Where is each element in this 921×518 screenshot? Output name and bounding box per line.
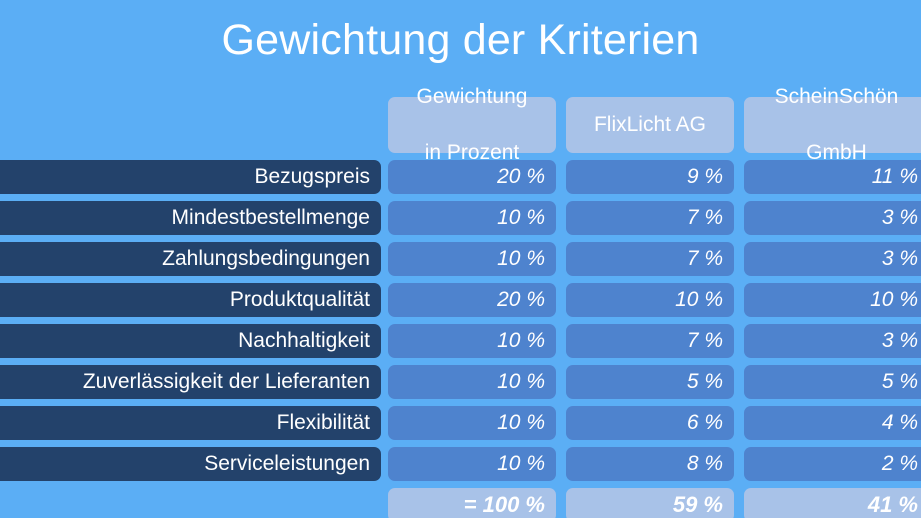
weight-value: 10 %: [388, 201, 556, 235]
weight-value: 10 %: [388, 365, 556, 399]
flixlicht-value: 6 %: [566, 406, 734, 440]
table-row: Mindestbestellmenge 10 % 7 % 3 %: [0, 201, 921, 235]
flixlicht-value: 9 %: [566, 160, 734, 194]
scheinschoen-value: 3 %: [744, 324, 921, 358]
flixlicht-value: 10 %: [566, 283, 734, 317]
weight-total: = 100 %: [388, 488, 556, 518]
weight-value: 10 %: [388, 324, 556, 358]
column-header-gewichtung-line1: Gewichtung: [394, 83, 550, 111]
table-header-row: Gewichtung in Prozent FlixLicht AG Schei…: [0, 97, 921, 153]
criterion-label: Serviceleistungen: [0, 447, 381, 481]
page-title: Gewichtung der Kriterien: [0, 16, 921, 65]
column-header-scheinschoen-line1: ScheinSchön: [750, 83, 921, 111]
column-header-gewichtung: Gewichtung in Prozent: [388, 97, 556, 153]
table-row: Serviceleistungen 10 % 8 % 2 %: [0, 447, 921, 481]
criterion-label: Produktqualität: [0, 283, 381, 317]
weight-value: 10 %: [388, 242, 556, 276]
criteria-weighting-table: Gewichtung in Prozent FlixLicht AG Schei…: [0, 97, 921, 518]
criterion-label: Bezugspreis: [0, 160, 381, 194]
criterion-label: Zuverlässigkeit der Lieferanten: [0, 365, 381, 399]
table-summary-row: = 100 % 59 % 41 %: [0, 488, 921, 518]
table-row: Zahlungsbedingungen 10 % 7 % 3 %: [0, 242, 921, 276]
criterion-label: Flexibilität: [0, 406, 381, 440]
flixlicht-value: 8 %: [566, 447, 734, 481]
weight-value: 10 %: [388, 447, 556, 481]
column-header-scheinschoen: ScheinSchön GmbH: [744, 97, 921, 153]
table-row: Produktqualität 20 % 10 % 10 %: [0, 283, 921, 317]
scheinschoen-value: 5 %: [744, 365, 921, 399]
flixlicht-value: 7 %: [566, 201, 734, 235]
weight-value: 20 %: [388, 283, 556, 317]
scheinschoen-value: 11 %: [744, 160, 921, 194]
slide: Gewichtung der Kriterien Gewichtung in P…: [0, 0, 921, 518]
flixlicht-value: 7 %: [566, 324, 734, 358]
table-row: Nachhaltigkeit 10 % 7 % 3 %: [0, 324, 921, 358]
scheinschoen-value: 2 %: [744, 447, 921, 481]
flixlicht-value: 5 %: [566, 365, 734, 399]
table-row: Bezugspreis 20 % 9 % 11 %: [0, 160, 921, 194]
scheinschoen-value: 3 %: [744, 242, 921, 276]
column-header-flixlicht-line1: FlixLicht AG: [572, 111, 728, 139]
flixlicht-total: 59 %: [566, 488, 734, 518]
scheinschoen-value: 3 %: [744, 201, 921, 235]
scheinschoen-value: 4 %: [744, 406, 921, 440]
criterion-label: Nachhaltigkeit: [0, 324, 381, 358]
weight-value: 20 %: [388, 160, 556, 194]
column-header-flixlicht: FlixLicht AG: [566, 97, 734, 153]
weight-value: 10 %: [388, 406, 556, 440]
table-row: Zuverlässigkeit der Lieferanten 10 % 5 %…: [0, 365, 921, 399]
criterion-label: Zahlungsbedingungen: [0, 242, 381, 276]
flixlicht-value: 7 %: [566, 242, 734, 276]
criterion-label: Mindestbestellmenge: [0, 201, 381, 235]
scheinschoen-total: 41 %: [744, 488, 921, 518]
table-row: Flexibilität 10 % 6 % 4 %: [0, 406, 921, 440]
scheinschoen-value: 10 %: [744, 283, 921, 317]
